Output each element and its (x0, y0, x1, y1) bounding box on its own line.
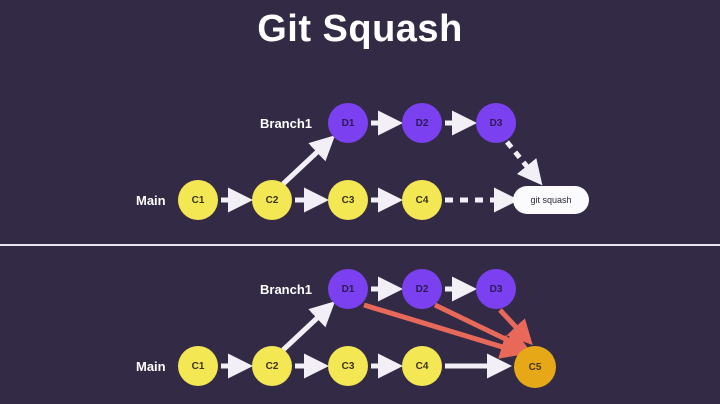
git-squash-pill[interactable]: git squash (513, 186, 589, 214)
node-d1-top[interactable]: D1 (328, 103, 368, 143)
node-d3-top[interactable]: D3 (476, 103, 516, 143)
node-c4-top[interactable]: C4 (402, 180, 442, 220)
node-c3-top[interactable]: C3 (328, 180, 368, 220)
node-c1-bottom[interactable]: C1 (178, 346, 218, 386)
node-d2-bottom[interactable]: D2 (402, 269, 442, 309)
node-c1-top[interactable]: C1 (178, 180, 218, 220)
node-d2-top[interactable]: D2 (402, 103, 442, 143)
node-c2-top[interactable]: C2 (252, 180, 292, 220)
panel-divider (0, 244, 720, 246)
node-c5-squashed[interactable]: C5 (514, 346, 556, 388)
top-branch-fork-arrow (283, 140, 330, 184)
diagram-canvas: Git Squash (0, 0, 720, 404)
top-main-label: Main (136, 193, 166, 208)
bottom-main-label: Main (136, 359, 166, 374)
bottom-branch-fork-arrow (283, 306, 330, 350)
top-dashed-arrow-d3-to-squash (507, 142, 538, 180)
top-branch-label: Branch1 (260, 116, 312, 131)
bottom-squash-arrows (364, 305, 528, 352)
bottom-branch-label: Branch1 (260, 282, 312, 297)
page-title: Git Squash (0, 8, 720, 51)
node-c4-bottom[interactable]: C4 (402, 346, 442, 386)
node-c2-bottom[interactable]: C2 (252, 346, 292, 386)
node-c3-bottom[interactable]: C3 (328, 346, 368, 386)
node-d3-bottom[interactable]: D3 (476, 269, 516, 309)
node-d1-bottom[interactable]: D1 (328, 269, 368, 309)
